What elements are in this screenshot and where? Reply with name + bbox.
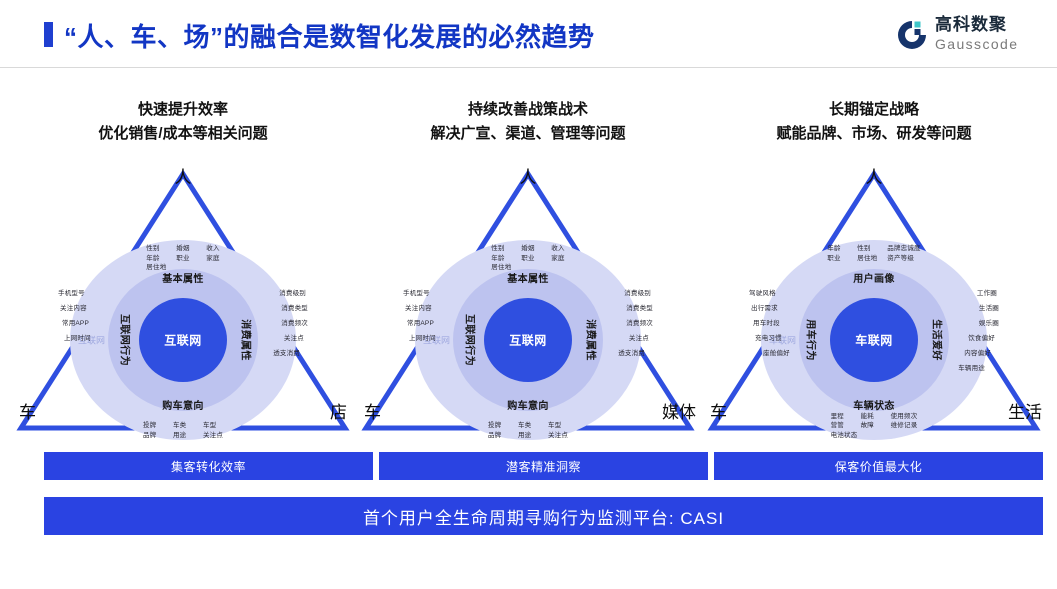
triangle-vertex-apex: 人 — [13, 169, 353, 186]
detail-item: 娱乐圈 — [958, 316, 999, 331]
detail-group-top: 年龄性别品牌忠诚度 职业居住地资产等级 — [827, 244, 921, 263]
triangle-diagram: 人 车 媒体 互联网 基本属性 购车意向 互联网行为 消费属性 互联网 性别婚姻… — [358, 156, 698, 436]
detail-item: 消费频次 — [618, 316, 653, 331]
column-tactics: 持续改善战策战术 解决广宣、渠道、管理等问题 人 车 媒体 互联网 基本属性 购… — [358, 86, 698, 446]
quadrant-right-label: 消费属性 — [240, 319, 255, 361]
triangle-vertex-apex: 人 — [704, 169, 1044, 186]
radial-core-label: 车联网 — [855, 332, 893, 349]
detail-item: 手机型号 — [403, 286, 436, 301]
column-heading-line2: 解决广宣、渠道、管理等问题 — [358, 122, 698, 146]
logo-text-en: Gausscode — [935, 35, 1035, 53]
detail-item: 透支消费 — [273, 346, 308, 361]
detail-item: 消费频次 — [273, 316, 308, 331]
detail-item: 生活圈 — [958, 301, 999, 316]
triangle-vertex-left: 车 — [364, 404, 381, 421]
detail-row: 居住地 — [491, 263, 564, 273]
detail-item: 常用APP — [58, 316, 91, 331]
footer-banner: 首个用户全生命周期寻购行为监测平台: CASI — [44, 497, 1043, 535]
triangle-vertex-apex: 人 — [358, 169, 698, 186]
detail-group-right: 消费级别 消费类型 消费频次 关注点 透支消费 — [618, 286, 653, 361]
detail-row: 性别婚姻收入 — [146, 244, 219, 254]
detail-row: 品牌用途关注点 — [143, 431, 223, 441]
detail-row: 居住地 — [146, 263, 219, 273]
detail-group-bottom: 投牌车类车型 品牌用途关注点 — [488, 421, 568, 440]
column-heading: 持续改善战策战术 解决广宣、渠道、管理等问题 — [358, 98, 698, 146]
detail-row: 品牌用途关注点 — [488, 431, 568, 441]
outcome-bar-insight: 潜客精准洞察 — [379, 452, 708, 480]
column-heading-line1: 持续改善战策战术 — [358, 98, 698, 122]
quadrant-right-label: 生活爱好 — [931, 319, 946, 361]
triangle-diagram: 人 车 店 互联网 基本属性 购车意向 互联网行为 消费属性 互联网 性别婚姻收… — [13, 156, 353, 436]
detail-row: 年龄职业家庭 — [491, 254, 564, 264]
column-heading-line2: 赋能品牌、市场、研发等问题 — [704, 122, 1044, 146]
gausscode-logo-icon — [895, 18, 929, 52]
outcome-bar-value: 保客价值最大化 — [714, 452, 1043, 480]
title-bullet-icon — [44, 22, 53, 47]
detail-row: 年龄职业家庭 — [146, 254, 219, 264]
triangle-vertex-right: 店 — [330, 404, 347, 421]
detail-group-left: 手机型号 关注内容 常用APP 上网时间 — [58, 286, 91, 346]
quadrant-bottom-label: 购车意向 — [162, 397, 204, 412]
detail-item: 工作圈 — [958, 286, 999, 301]
detail-item: 车辆用途 — [958, 361, 999, 376]
detail-group-top: 性别婚姻收入 年龄职业家庭 居住地 — [491, 244, 564, 273]
detail-item: 消费类型 — [618, 301, 653, 316]
detail-row: 职业居住地资产等级 — [827, 254, 921, 264]
detail-row: 年龄性别品牌忠诚度 — [827, 244, 921, 254]
detail-item: 驾驶风格 — [749, 286, 790, 301]
outcome-bar-efficiency: 集客转化效率 — [44, 452, 373, 480]
quadrant-left-label: 互联网行为 — [464, 314, 479, 366]
logo-text-cn: 高科数聚 — [935, 14, 1035, 35]
detail-item: 关注内容 — [58, 301, 91, 316]
detail-group-left: 驾驶风格 出行需求 用车时段 充电习惯 座舱偏好 — [749, 286, 790, 361]
radial-diagram: 互联网 基本属性 购车意向 互联网行为 消费属性 互联网 性别婚姻收入 年龄职业… — [70, 240, 296, 440]
page-title: “人、车、场”的融合是数智化发展的必然趋势 — [64, 17, 595, 54]
triangle-vertex-right: 媒体 — [662, 404, 696, 421]
detail-group-right: 工作圈 生活圈 娱乐圈 饮食偏好 内容偏好 车辆用途 — [958, 286, 999, 376]
detail-group-bottom: 里程能耗使用频次 营管故障维修记录 电池状态 — [831, 412, 918, 441]
detail-item: 饮食偏好 — [958, 331, 999, 346]
brand-logo: 高科数聚 Gausscode — [895, 14, 1035, 58]
column-efficiency: 快速提升效率 优化销售/成本等相关问题 人 车 店 互联网 基本属性 购车意向 … — [13, 86, 353, 446]
quadrant-top-label: 用户画像 — [853, 270, 895, 285]
column-heading-line1: 快速提升效率 — [13, 98, 353, 122]
header-divider — [0, 67, 1057, 68]
detail-group-left: 手机型号 关注内容 常用APP 上网时间 — [403, 286, 436, 346]
detail-item: 上网时间 — [58, 331, 91, 346]
radial-diagram: 车联网 用户画像 车辆状态 用车行为 生活爱好 车联网 年龄性别品牌忠诚度 职业… — [761, 240, 987, 440]
detail-row: 电池状态 — [831, 431, 918, 441]
detail-item: 充电习惯 — [749, 331, 790, 346]
triangle-diagram: 人 车 生活 车联网 用户画像 车辆状态 用车行为 生活爱好 车联网 年龄性别品… — [704, 156, 1044, 436]
triangle-vertex-left: 车 — [710, 404, 727, 421]
column-heading: 长期锚定战略 赋能品牌、市场、研发等问题 — [704, 98, 1044, 146]
detail-item: 常用APP — [403, 316, 436, 331]
detail-item: 消费级别 — [273, 286, 308, 301]
detail-item: 座舱偏好 — [749, 346, 790, 361]
detail-item: 关注点 — [618, 331, 653, 346]
page-header: “人、车、场”的融合是数智化发展的必然趋势 高科数聚 Gausscode — [0, 0, 1057, 68]
column-strategy: 长期锚定战略 赋能品牌、市场、研发等问题 人 车 生活 车联网 用户画像 车辆状… — [704, 86, 1044, 446]
detail-item: 关注点 — [273, 331, 308, 346]
detail-item: 关注内容 — [403, 301, 436, 316]
detail-item: 透支消费 — [618, 346, 653, 361]
detail-row: 性别婚姻收入 — [491, 244, 564, 254]
detail-row: 营管故障维修记录 — [831, 421, 918, 431]
column-heading-line2: 优化销售/成本等相关问题 — [13, 122, 353, 146]
radial-core-label: 互联网 — [509, 332, 547, 349]
radial-diagram: 互联网 基本属性 购车意向 互联网行为 消费属性 互联网 性别婚姻收入 年龄职业… — [415, 240, 641, 440]
detail-group-right: 消费级别 消费类型 消费频次 关注点 透支消费 — [273, 286, 308, 361]
detail-row: 里程能耗使用频次 — [831, 412, 918, 422]
detail-item: 出行需求 — [749, 301, 790, 316]
detail-item: 手机型号 — [58, 286, 91, 301]
detail-item: 内容偏好 — [958, 346, 999, 361]
detail-item: 消费类型 — [273, 301, 308, 316]
quadrant-bottom-label: 购车意向 — [507, 397, 549, 412]
triangle-vertex-right: 生活 — [1008, 404, 1042, 421]
column-heading: 快速提升效率 优化销售/成本等相关问题 — [13, 98, 353, 146]
detail-item: 消费级别 — [618, 286, 653, 301]
quadrant-left-label: 用车行为 — [804, 319, 819, 361]
quadrant-bottom-label: 车辆状态 — [853, 397, 895, 412]
triangle-vertex-left: 车 — [19, 404, 36, 421]
detail-item: 上网时间 — [403, 331, 436, 346]
column-heading-line1: 长期锚定战略 — [704, 98, 1044, 122]
detail-group-top: 性别婚姻收入 年龄职业家庭 居住地 — [146, 244, 219, 273]
detail-row: 投牌车类车型 — [488, 421, 568, 431]
detail-item: 用车时段 — [749, 316, 790, 331]
detail-row: 投牌车类车型 — [143, 421, 223, 431]
quadrant-left-label: 互联网行为 — [119, 314, 134, 366]
radial-core-label: 互联网 — [164, 332, 202, 349]
detail-group-bottom: 投牌车类车型 品牌用途关注点 — [143, 421, 223, 440]
quadrant-right-label: 消费属性 — [585, 319, 600, 361]
